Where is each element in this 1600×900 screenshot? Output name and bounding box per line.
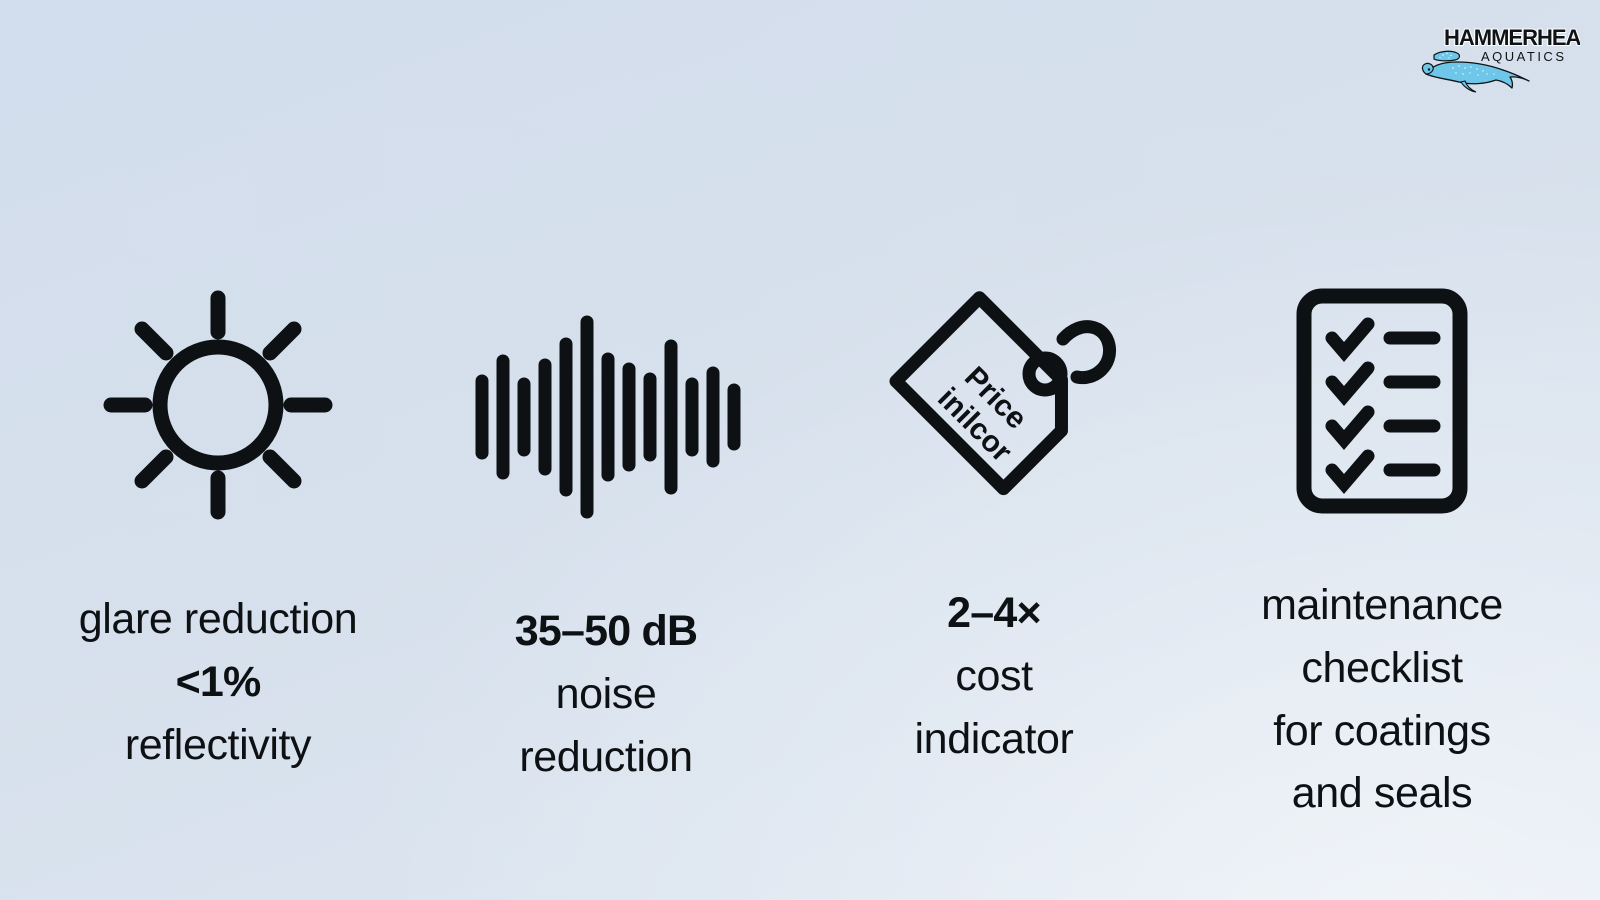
caption-line-emphasis: 2–4× [915,582,1074,645]
sun-ray-nw [142,329,166,353]
feature-column-glare: glare reduction <1% reflectivity [24,0,412,776]
feature-columns: glare reduction <1% reflectivity 35–50 d… [0,0,1600,900]
caption-line: checklist [1261,637,1503,700]
caption-line: maintenance [1261,574,1503,637]
sun-core [160,347,276,463]
caption-line-emphasis: 35–50 dB [515,600,697,663]
caption-line: cost [915,645,1074,708]
check-mark-3 [1332,412,1368,440]
caption-line: reflectivity [79,714,357,777]
price-tag-icon: Price inilcor [867,236,1122,566]
infographic-canvas: HAMMERHEAD AQUATICS [0,0,1600,900]
feature-column-noise: 35–50 dB noise reduction [412,0,800,788]
caption-line: glare reduction [79,588,357,651]
caption-line: reduction [515,726,697,789]
caption-line-emphasis: <1% [79,651,357,714]
sun-icon [93,240,343,570]
check-mark-1 [1332,324,1368,352]
caption-line: indicator [915,708,1074,771]
sun-ray-sw [142,457,166,481]
caption-noise: 35–50 dB noise reduction [515,600,697,788]
tag-string-loop [1063,326,1110,377]
caption-cost: 2–4× cost indicator [915,582,1074,770]
caption-line: noise [515,663,697,726]
caption-line: and seals [1261,762,1503,825]
caption-line: for coatings [1261,700,1503,763]
check-mark-4 [1332,456,1368,484]
check-mark-2 [1332,368,1368,396]
feature-column-cost: Price inilcor 2–4× cost indicator [800,0,1188,770]
tag-hole [1029,358,1061,390]
caption-glare: glare reduction <1% reflectivity [79,588,357,776]
checklist-clipboard-icon [1292,236,1472,566]
caption-maintenance: maintenance checklist for coatings and s… [1261,574,1503,825]
feature-column-maintenance: maintenance checklist for coatings and s… [1188,0,1576,825]
sun-ray-se [270,457,294,481]
sun-ray-ne [270,329,294,353]
sound-waveform-icon [466,252,746,582]
